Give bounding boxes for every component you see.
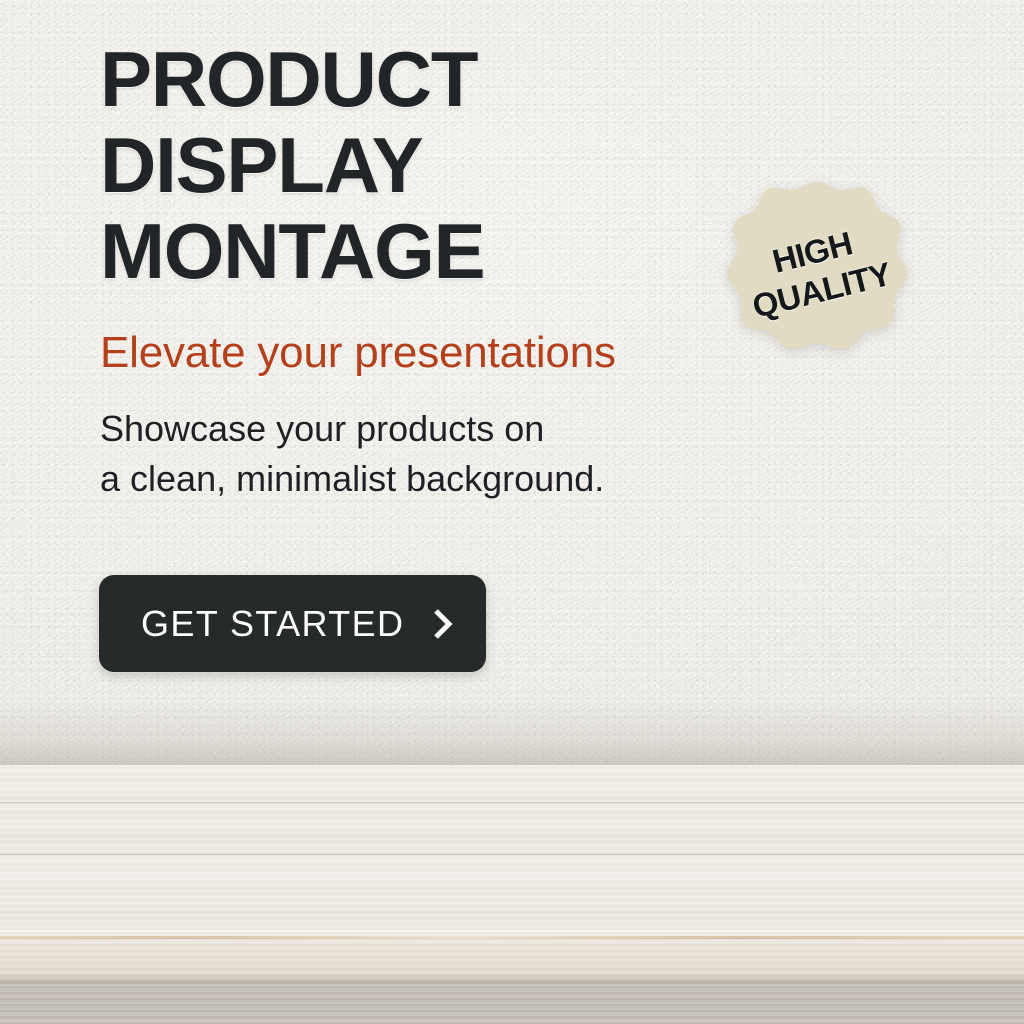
text-content-block: PRODUCT DISPLAY MONTAGE Elevate your pre… [100,0,740,504]
high-quality-badge: HIGH QUALITY [722,176,912,366]
chevron-right-icon [430,607,456,641]
poster-canvas: PRODUCT DISPLAY MONTAGE Elevate your pre… [0,0,1024,1024]
table-edge-shadow [0,974,1024,984]
description-line-2: a clean, minimalist background. [100,454,740,504]
get-started-button-label: GET STARTED [141,603,404,645]
description-text: Showcase your products on a clean, minim… [100,378,740,504]
wooden-table [0,765,1024,1024]
page-title: PRODUCT DISPLAY MONTAGE [100,0,740,294]
headline-line-2: DISPLAY [100,122,740,208]
wood-grain [0,984,1024,1024]
headline-line-1: PRODUCT [100,36,740,122]
table-plank-middle [0,803,1024,855]
scalloped-seal-shape [722,176,912,366]
subtitle: Elevate your presentations [100,294,740,378]
table-plank-front [0,855,1024,930]
wall-base-shadow [0,698,1024,768]
wood-grain [0,855,1024,930]
table-plank-seam [0,854,1024,856]
table-front-edge [0,936,1024,984]
floor-band [0,984,1024,1024]
description-line-1: Showcase your products on [100,404,740,454]
headline-line-3: MONTAGE [100,208,740,294]
wood-grain [0,765,1024,803]
get-started-button[interactable]: GET STARTED [99,575,486,672]
wood-grain [0,803,1024,855]
table-plank-seam [0,802,1024,804]
table-plank-back [0,765,1024,803]
